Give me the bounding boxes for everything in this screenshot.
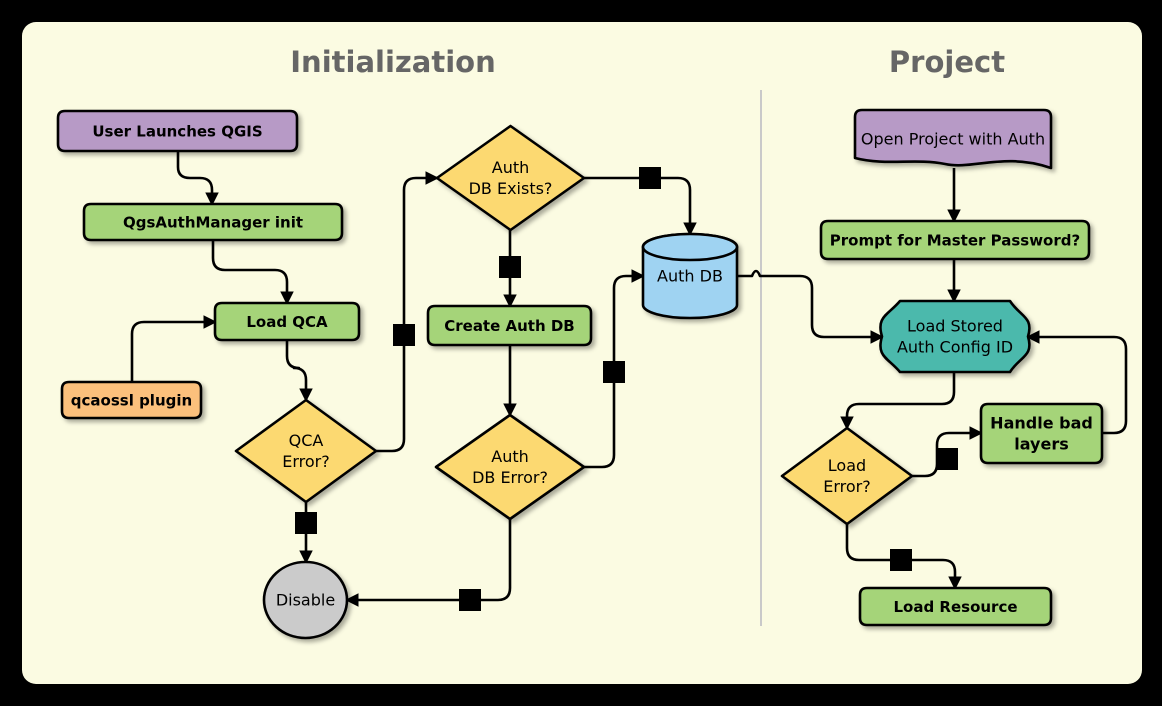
node-label-line: Disable xyxy=(276,591,335,610)
node-auth-db[interactable]: Auth DB xyxy=(643,234,737,318)
node-label-line: Load QCA xyxy=(246,313,328,331)
edge-e-plugin-to-loadqca xyxy=(132,322,215,382)
node-label-line: Auth xyxy=(492,158,530,177)
edge-e-init-to-loadqca xyxy=(213,240,287,303)
node-label: Auth DB xyxy=(657,267,723,286)
node-load-stored-auth-config[interactable]: Load StoredAuth Config ID xyxy=(880,301,1029,372)
node-label-line: Auth xyxy=(491,447,529,466)
edge-e-loaderr-to-loadres xyxy=(847,524,955,588)
node-auth-db-exists[interactable]: AuthDB Exists? xyxy=(437,126,584,230)
edge-connector-marker xyxy=(295,512,317,534)
edge-e-launch-to-init xyxy=(178,151,212,204)
node-handle-bad-layers[interactable]: Handle badlayers xyxy=(981,404,1102,463)
edge-e-qcaerror-to-disable xyxy=(295,502,317,562)
node-label-line: Handle bad xyxy=(990,414,1093,433)
node-disable[interactable]: Disable xyxy=(264,562,347,638)
edge-connector-marker xyxy=(639,167,661,189)
node-label-line: Load Stored xyxy=(907,317,1003,336)
node-shape-cylinder-top xyxy=(643,234,737,260)
node-label-line: Error? xyxy=(823,477,871,496)
node-shape-diamond xyxy=(436,415,584,519)
node-label-line: QgsAuthManager init xyxy=(123,213,303,231)
node-label-line: Create Auth DB xyxy=(444,317,575,335)
edge-path xyxy=(213,240,287,303)
node-label-line: Auth DB xyxy=(657,267,723,286)
node-shape-diamond xyxy=(236,400,376,502)
node-label: QgsAuthManager init xyxy=(123,213,303,231)
node-create-auth-db[interactable]: Create Auth DB xyxy=(428,306,591,345)
node-label-line: DB Exists? xyxy=(469,179,553,198)
edge-path xyxy=(847,372,954,428)
edge-path xyxy=(132,322,215,382)
node-label: Load Resource xyxy=(893,598,1017,616)
edge-connector-marker xyxy=(459,589,481,611)
node-load-resource[interactable]: Load Resource xyxy=(860,588,1051,625)
edge-path xyxy=(737,271,882,337)
node-label-line: QCA xyxy=(289,431,324,450)
node-label: Create Auth DB xyxy=(444,317,575,335)
edge-connector-marker xyxy=(936,448,958,470)
node-shape-tape xyxy=(880,301,1029,372)
edge-e-authexists-to-authdb xyxy=(584,167,690,234)
edge-path xyxy=(584,178,690,234)
node-label-line: layers xyxy=(1014,435,1068,454)
node-prompt-master-password[interactable]: Prompt for Master Password? xyxy=(821,221,1089,259)
node-label: Prompt for Master Password? xyxy=(830,231,1080,249)
node-label-line: User Launches QGIS xyxy=(92,122,262,140)
node-shape-diamond xyxy=(437,126,584,230)
edge-path xyxy=(178,151,212,204)
node-label: qcaossl plugin xyxy=(71,391,192,409)
node-label: Disable xyxy=(276,591,335,610)
lane-title-project: Project xyxy=(889,45,1005,79)
edge-e-loadqca-to-qcaerror xyxy=(287,340,306,400)
edge-connector-marker xyxy=(603,361,625,383)
node-open-project-auth[interactable]: Open Project with Auth xyxy=(855,110,1051,168)
edge-e-dberror-to-authdb xyxy=(584,276,643,467)
node-load-error[interactable]: LoadError? xyxy=(782,428,912,524)
edge-path xyxy=(287,340,306,400)
edge-e-authdb-to-loadstored xyxy=(737,271,882,337)
node-label-line: Load xyxy=(828,456,866,475)
node-qcaossl-plugin[interactable]: qcaossl plugin xyxy=(62,382,201,418)
node-layer: User Launches QGISQgsAuthManager initLoa… xyxy=(58,110,1102,638)
edge-connector-marker xyxy=(890,549,912,571)
node-auth-db-error[interactable]: AuthDB Error? xyxy=(436,415,584,519)
edge-e-authexists-to-create xyxy=(499,230,521,306)
node-label: Open Project with Auth xyxy=(861,130,1045,149)
edge-e-dberror-to-disable xyxy=(347,519,510,611)
edge-connector-marker xyxy=(499,256,521,278)
node-label-line: Error? xyxy=(282,452,330,471)
node-load-qca[interactable]: Load QCA xyxy=(215,303,359,340)
node-user-launches-qgis[interactable]: User Launches QGIS xyxy=(58,111,297,151)
flowchart-svg: Initialization Project User Launches QGI… xyxy=(0,0,1162,706)
node-label: Load QCA xyxy=(246,313,328,331)
node-qca-error[interactable]: QCAError? xyxy=(236,400,376,502)
node-label-line: Open Project with Auth xyxy=(861,130,1045,149)
node-shape-diamond xyxy=(782,428,912,524)
node-label-line: DB Error? xyxy=(472,468,548,487)
node-label-line: Auth Config ID xyxy=(897,338,1013,357)
node-label-line: qcaossl plugin xyxy=(71,391,192,409)
edge-connector-marker xyxy=(393,324,415,346)
node-label-line: Prompt for Master Password? xyxy=(830,231,1080,249)
lane-title-initialization: Initialization xyxy=(290,45,495,79)
diagram-stage: Initialization Project User Launches QGI… xyxy=(0,0,1162,706)
edge-e-loaderr-to-handlebad xyxy=(912,433,981,476)
node-label-line: Load Resource xyxy=(893,598,1017,616)
edge-e-loadstored-to-loaderr xyxy=(847,372,954,428)
node-label: User Launches QGIS xyxy=(92,122,262,140)
node-qgsauthmanager-init[interactable]: QgsAuthManager init xyxy=(84,204,342,240)
edge-path xyxy=(347,519,510,600)
